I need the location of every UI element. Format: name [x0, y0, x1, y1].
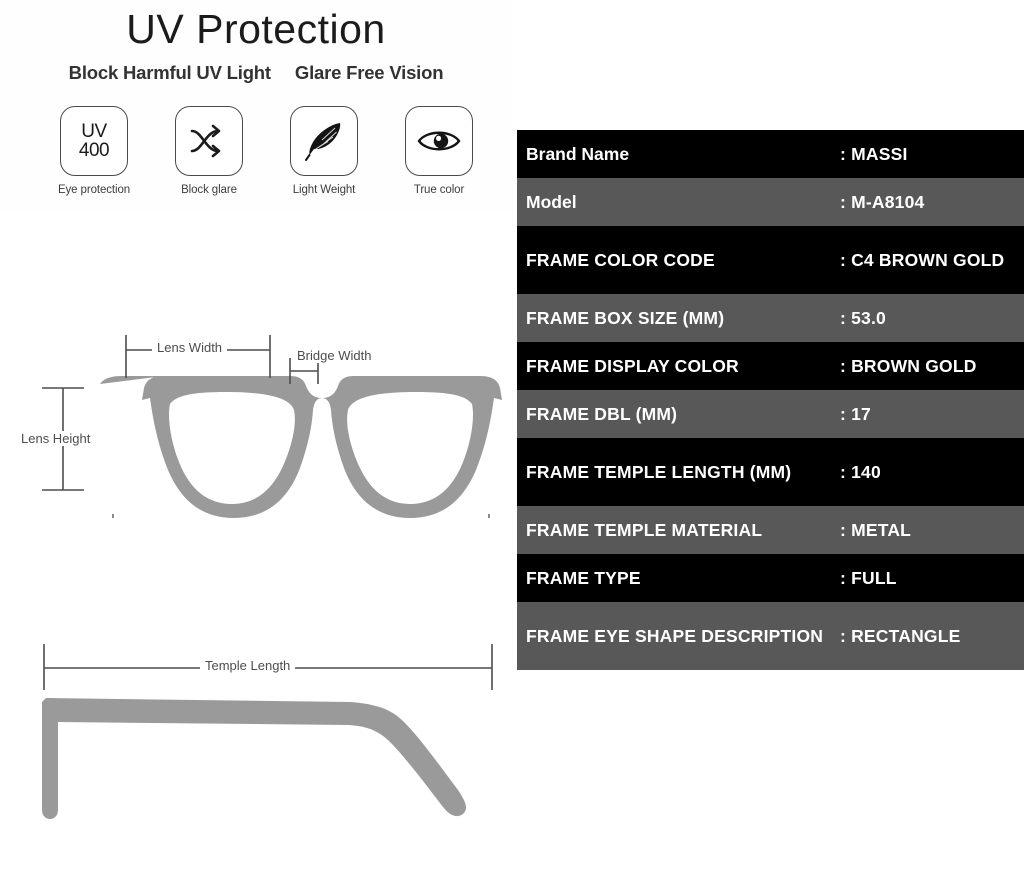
- spec-label: FRAME TYPE: [517, 568, 840, 589]
- feature-caption-light-weight: Light Weight: [293, 184, 356, 196]
- product-detail-page: UV Protection Block Harmful UV Light Gla…: [0, 0, 1024, 886]
- feature-eye-protection: UV 400 Eye protection: [60, 106, 128, 196]
- feature-light-weight: Light Weight: [290, 106, 358, 196]
- feature-caption-eye-protection: Eye protection: [58, 184, 130, 196]
- table-row: FRAME COLOR CODE: C4 BROWN GOLD: [517, 226, 1024, 294]
- spec-value: : C4 BROWN GOLD: [840, 250, 1024, 271]
- shuffle-arrows-icon: [175, 106, 243, 176]
- table-row: FRAME TYPE: FULL: [517, 554, 1024, 602]
- table-row: FRAME DISPLAY COLOR: BROWN GOLD: [517, 342, 1024, 390]
- spec-value: : METAL: [840, 520, 1024, 541]
- label-lens-width: Lens Width: [152, 340, 227, 355]
- spec-value: : 17: [840, 404, 1024, 425]
- glasses-front-measurement-diagram: Lens Width Bridge Width Lens Height: [0, 300, 512, 570]
- hero-subtitle-row: Block Harmful UV Light Glare Free Vision: [0, 62, 512, 84]
- spec-label: FRAME TEMPLE LENGTH (MM): [517, 462, 840, 483]
- feature-caption-true-color: True color: [414, 184, 464, 196]
- table-row: Model: M-A8104: [517, 178, 1024, 226]
- table-row: Brand Name: MASSI: [517, 130, 1024, 178]
- label-lens-height: Lens Height: [16, 431, 95, 446]
- table-row: FRAME TEMPLE LENGTH (MM): 140: [517, 438, 1024, 506]
- glasses-temple-measurement-diagram: Temple Length: [0, 610, 512, 860]
- spec-label: FRAME BOX SIZE (MM): [517, 308, 840, 329]
- label-bridge-width: Bridge Width: [292, 348, 376, 363]
- table-row: FRAME DBL (MM): 17: [517, 390, 1024, 438]
- spec-label: FRAME TEMPLE MATERIAL: [517, 520, 840, 541]
- feature-icon-row: UV 400 Eye protection: [0, 106, 512, 196]
- temple-svg: [0, 610, 512, 860]
- table-row: FRAME TEMPLE MATERIAL: METAL: [517, 506, 1024, 554]
- left-illustration-panel: UV Protection Block Harmful UV Light Gla…: [0, 0, 512, 886]
- table-row: FRAME EYE SHAPE DESCRIPTION: RECTANGLE: [517, 602, 1024, 670]
- spec-value: : FULL: [840, 568, 1024, 589]
- spec-value: : MASSI: [840, 144, 1024, 165]
- product-specification-table: Brand Name: MASSIModel: M-A8104FRAME COL…: [517, 130, 1024, 670]
- spec-label: FRAME COLOR CODE: [517, 250, 840, 271]
- feature-true-color: True color: [405, 106, 473, 196]
- uv400-badge-icon: UV 400: [60, 106, 128, 176]
- spec-label: FRAME DBL (MM): [517, 404, 840, 425]
- label-temple-length: Temple Length: [200, 658, 295, 673]
- feather-icon: [290, 106, 358, 176]
- uv400-line-1: UV: [79, 122, 109, 141]
- table-row: FRAME BOX SIZE (MM): 53.0: [517, 294, 1024, 342]
- spec-value: : 53.0: [840, 308, 1024, 329]
- feature-block-glare: Block glare: [175, 106, 243, 196]
- spec-value: : 140: [840, 462, 1024, 483]
- spec-label: FRAME EYE SHAPE DESCRIPTION: [517, 626, 840, 647]
- spec-label: Model: [517, 192, 840, 213]
- uv-protection-banner: UV Protection Block Harmful UV Light Gla…: [0, 0, 512, 212]
- spec-value: : M-A8104: [840, 192, 1024, 213]
- spec-label: Brand Name: [517, 144, 840, 165]
- feature-caption-block-glare: Block glare: [181, 184, 237, 196]
- spec-value: : RECTANGLE: [840, 626, 1024, 647]
- spec-value: : BROWN GOLD: [840, 356, 1024, 377]
- uv400-line-2: 400: [79, 141, 109, 160]
- subtitle-block-uv: Block Harmful UV Light: [69, 62, 271, 84]
- subtitle-glare-free: Glare Free Vision: [295, 62, 443, 84]
- page-title: UV Protection: [0, 4, 512, 54]
- spec-label: FRAME DISPLAY COLOR: [517, 356, 840, 377]
- eye-icon: [405, 106, 473, 176]
